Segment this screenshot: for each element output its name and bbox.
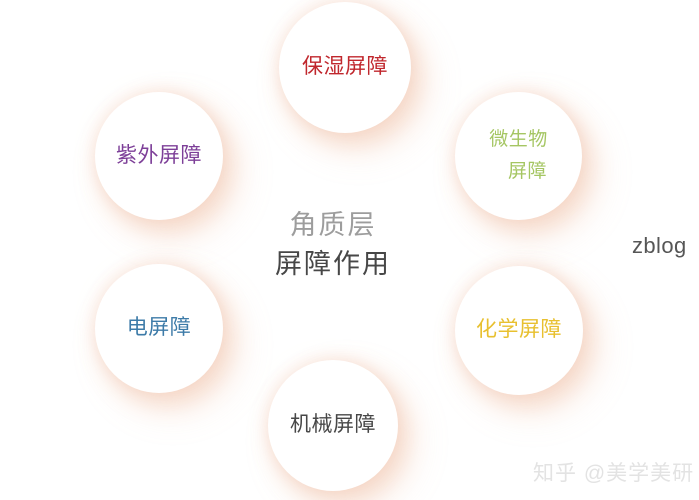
node-moisture-barrier[interactable]: 保湿屏障	[279, 2, 411, 133]
node-microbial-barrier[interactable]: 微生物 屏障	[455, 92, 582, 220]
watermark-zblog: zblog	[632, 233, 687, 259]
node-uv-barrier[interactable]: 紫外屏障	[95, 92, 223, 220]
barrier-function-diagram: 保湿屏障 紫外屏障 微生物 屏障 电屏障 化学屏障 机械屏障 角质层 屏障作用 …	[0, 0, 699, 500]
node-uv-barrier-label: 紫外屏障	[116, 142, 202, 170]
diagram-center-title-line1: 角质层	[233, 206, 433, 245]
node-microbial-barrier-label-line1: 微生物	[489, 129, 548, 150]
node-mechanical-barrier-label: 机械屏障	[290, 411, 376, 439]
watermark-zhihu: 知乎 @美学美研	[533, 457, 694, 487]
node-chemical-barrier[interactable]: 化学屏障	[455, 266, 583, 395]
diagram-center-title-line2: 屏障作用	[233, 245, 433, 284]
node-electric-barrier[interactable]: 电屏障	[95, 264, 223, 393]
node-moisture-barrier-label: 保湿屏障	[302, 53, 388, 81]
node-chemical-barrier-label: 化学屏障	[476, 316, 562, 344]
node-electric-barrier-label: 电屏障	[127, 314, 192, 342]
node-microbial-barrier-label-line2: 屏障	[489, 156, 548, 188]
node-mechanical-barrier[interactable]: 机械屏障	[268, 360, 398, 491]
diagram-center-title: 角质层 屏障作用	[233, 206, 433, 284]
node-microbial-barrier-label: 微生物 屏障	[489, 91, 548, 220]
